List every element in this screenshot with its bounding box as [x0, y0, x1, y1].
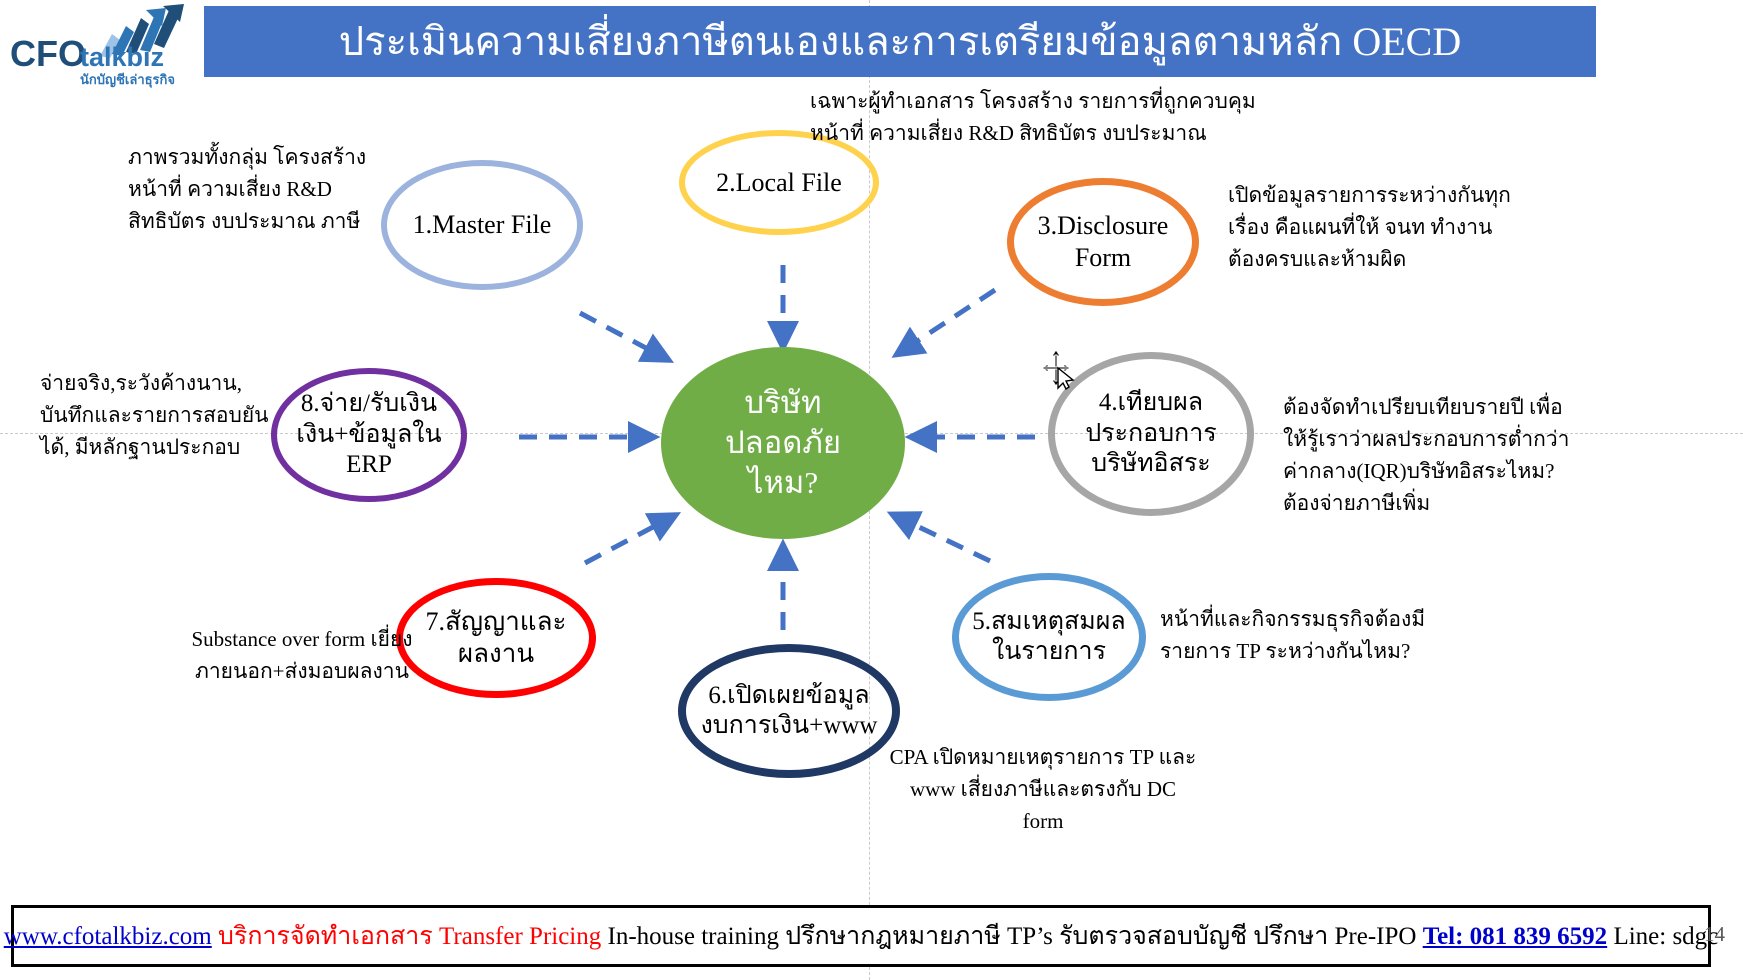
footer-training: In-house training: [608, 923, 779, 950]
node-disclosure-financials[interactable]: 6.เปิดเผยข้อมูล งบการเงิน+www: [678, 644, 900, 778]
footer-preipo: ปรึกษา Pre-IPO: [1253, 923, 1416, 950]
note-disclosure-form: เปิดข้อมูลรายการระหว่างกันทุกเรื่อง คือแ…: [1228, 180, 1528, 276]
node-2-label: 2.Local File: [710, 167, 848, 199]
footer-service-en: Transfer Pricing: [439, 923, 601, 950]
node-3-label-1: 3.Disclosure: [1032, 210, 1175, 242]
node-payments-erp[interactable]: 8.จ่าย/รับเงิน เงิน+ข้อมูลใน ERP: [271, 368, 467, 502]
node-reasonableness[interactable]: 5.สมเหตุสมผล ในรายการ: [952, 573, 1146, 701]
cfotalkbiz-logo: CFO talkbiz นักบัญชีเล่าธุรกิจ: [8, 4, 198, 94]
svg-text:CFO: CFO: [10, 33, 86, 74]
footer-consult: ปรึกษากฎหมายภาษี TP’s รับตรวจสอบบัญชี: [785, 923, 1247, 950]
node-1-label: 1.Master File: [407, 209, 558, 241]
svg-text:talkbiz: talkbiz: [80, 42, 164, 72]
note-master-file: ภาพรวมทั้งกลุ่ม โครงสร้าง หน้าที่ ความเส…: [128, 142, 368, 238]
page-title: ประเมินความเสี่ยงภาษีตนเองและการเตรียมข้…: [339, 21, 1462, 63]
node-7-label-1: 7.สัญญาและ: [420, 606, 573, 638]
note-payments: จ่ายจริง,ระวังค้างนาน, บันทึกและรายการสอ…: [40, 368, 285, 464]
center-line-1: บริษัท: [719, 383, 847, 423]
note-substance-over-form: Substance over form เยี่ยงภายนอก+ส่งมอบผ…: [172, 624, 432, 688]
node-4-label-3: บริษัทอิสระ: [1079, 449, 1222, 480]
footer-line-id: Line: sdgc: [1613, 923, 1718, 950]
node-4-label-1: 4.เทียบผล: [1079, 388, 1222, 419]
footer-service-th: บริการจัดทำเอกสาร: [218, 923, 433, 950]
arrow-5: [898, 517, 990, 561]
slide-title-bar: ประเมินความเสี่ยงภาษีตนเองและการเตรียมข้…: [204, 6, 1596, 77]
footer-phone[interactable]: Tel: 081 839 6592: [1423, 923, 1608, 950]
node-6-label-1: 6.เปิดเผยข้อมูล: [695, 681, 884, 712]
note-reasonableness: หน้าที่และกิจกรรมธุรกิจต้องมีรายการ TP ร…: [1160, 604, 1460, 668]
note-local-file: เฉพาะผู้ทำเอกสาร โครงสร้าง รายการที่ถูกค…: [810, 86, 1280, 150]
note-benchmark: ต้องจัดทำเปรียบเทียบรายปี เพื่อให้รู้เรา…: [1283, 392, 1583, 520]
footer-bar: www.cfotalkbiz.com บริการจัดทำเอกสาร Tra…: [11, 905, 1711, 967]
node-master-file[interactable]: 1.Master File: [381, 160, 583, 290]
center-line-3: ไหม?: [719, 463, 847, 503]
node-8-label-3: ERP: [290, 450, 447, 481]
center-line-2: ปลอดภัย: [719, 423, 847, 463]
node-5-label-1: 5.สมเหตุสมผล: [966, 607, 1131, 638]
svg-text:นักบัญชีเล่าธุรกิจ: นักบัญชีเล่าธุรกิจ: [80, 72, 175, 88]
page-number: 14: [1704, 922, 1725, 947]
node-5-label-2: ในรายการ: [966, 637, 1131, 668]
logo-svg: CFO talkbiz นักบัญชีเล่าธุรกิจ: [8, 4, 198, 94]
node-8-label-1: 8.จ่าย/รับเงิน: [290, 389, 447, 420]
node-7-label-2: ผลงาน: [420, 638, 573, 670]
node-8-label-2: เงิน+ข้อมูลใน: [290, 420, 447, 451]
slide-canvas: CFO talkbiz นักบัญชีเล่าธุรกิจ ประเมินคว…: [0, 0, 1743, 980]
arrow-1: [580, 313, 663, 357]
node-4-label-2: ประกอบการ: [1079, 419, 1222, 450]
website-link[interactable]: www.cfotalkbiz.com: [4, 923, 212, 950]
mouse-cursor-move-icon: [1040, 348, 1080, 390]
arrow-7: [585, 518, 670, 563]
arrow-3: [902, 290, 995, 351]
node-3-label-2: Form: [1032, 242, 1175, 274]
node-6-label-2: งบการเงิน+www: [695, 711, 884, 742]
node-disclosure-form[interactable]: 3.Disclosure Form: [1007, 178, 1199, 306]
note-cpa-disclosure: CPA เปิดหมายเหตุรายการ TP และ www เสี่ยง…: [888, 742, 1198, 838]
center-node[interactable]: บริษัท ปลอดภัย ไหม?: [661, 347, 905, 539]
footer-text: www.cfotalkbiz.com บริการจัดทำเอกสาร Tra…: [4, 916, 1719, 956]
